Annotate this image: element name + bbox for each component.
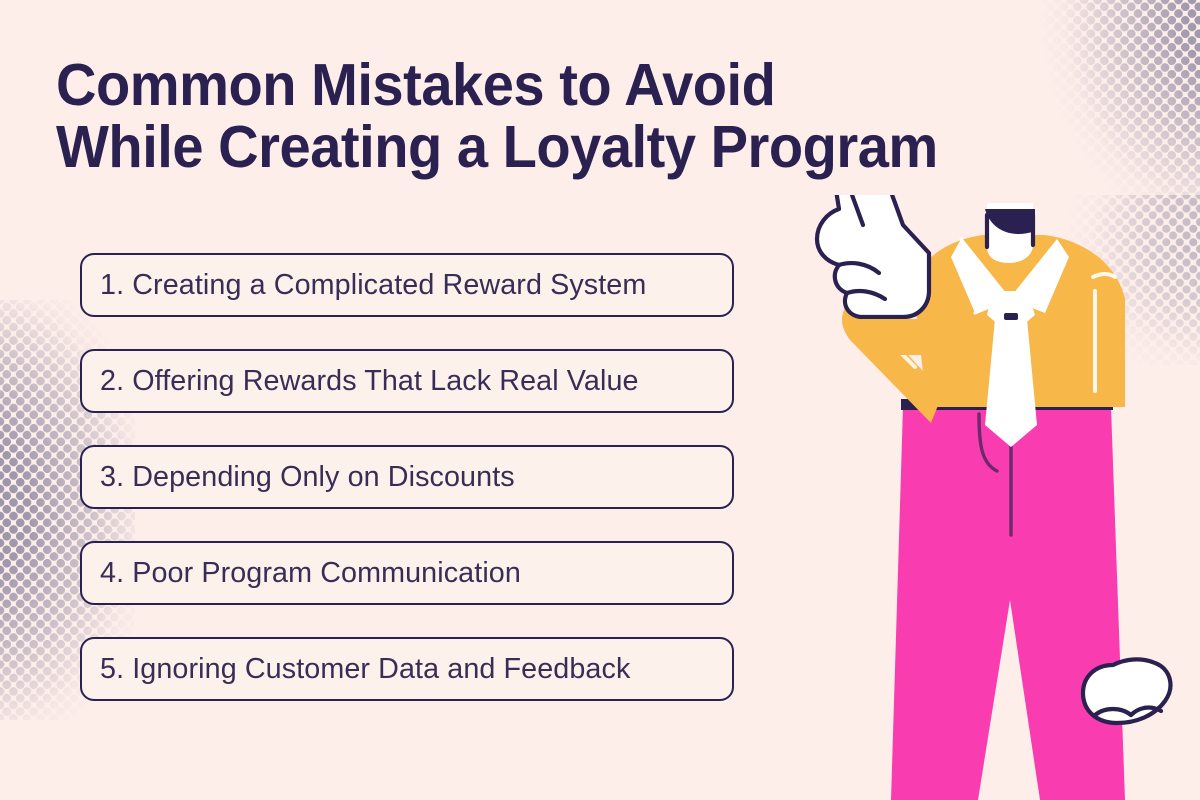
mistake-list: 1. Creating a Complicated Reward System …: [80, 253, 734, 701]
list-item-label: 5. Ignoring Customer Data and Feedback: [100, 654, 630, 684]
title-line-1: Common Mistakes to Avoid: [56, 54, 1035, 116]
list-item: 5. Ignoring Customer Data and Feedback: [80, 637, 734, 701]
title-line-2: While Creating a Loyalty Program: [56, 116, 1035, 178]
pointing-man-illustration: [795, 195, 1200, 800]
page-title: Common Mistakes to Avoid While Creating …: [56, 54, 1086, 178]
list-item-label: 1. Creating a Complicated Reward System: [100, 270, 646, 300]
list-item-label: 3. Depending Only on Discounts: [100, 462, 515, 492]
list-item: 1. Creating a Complicated Reward System: [80, 253, 734, 317]
list-item-label: 2. Offering Rewards That Lack Real Value: [100, 366, 639, 396]
list-item: 3. Depending Only on Discounts: [80, 445, 734, 509]
list-item-label: 4. Poor Program Communication: [100, 558, 521, 588]
trousers-shape: [891, 407, 1125, 800]
list-item: 4. Poor Program Communication: [80, 541, 734, 605]
infographic-poster: Common Mistakes to Avoid While Creating …: [0, 0, 1200, 800]
list-item: 2. Offering Rewards That Lack Real Value: [80, 349, 734, 413]
